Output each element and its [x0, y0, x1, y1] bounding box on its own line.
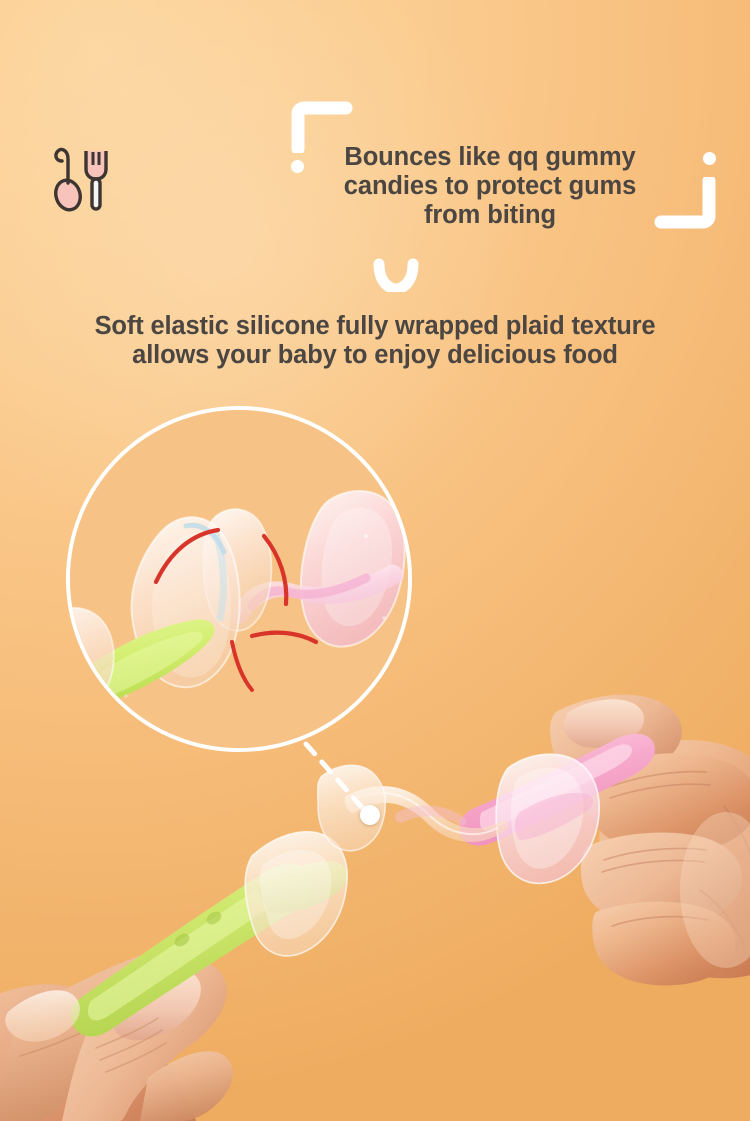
secondary-headline-line-2: allows your baby to enjoy delicious food	[40, 341, 710, 370]
primary-headline-line-2: candies to protect gums	[318, 172, 662, 201]
bracket-bottom-right-dot-icon	[703, 152, 716, 165]
secondary-headline: Soft elastic silicone fully wrapped plai…	[40, 312, 710, 370]
secondary-headline-line-1: Soft elastic silicone fully wrapped plai…	[40, 312, 710, 341]
primary-headline-line-3: from biting	[318, 201, 662, 230]
zoom-contents	[66, 406, 412, 752]
bracket-top-left-dot-icon	[291, 160, 304, 173]
spoon-fork-icon	[52, 143, 114, 215]
smile-divider-icon	[371, 258, 421, 292]
primary-headline-line-1: Bounces like qq gummy	[318, 143, 662, 172]
primary-headline: Bounces like qq gummy candies to protect…	[318, 143, 662, 230]
bracket-bottom-right-icon	[654, 177, 716, 229]
leader-anchor-dot	[360, 805, 380, 825]
marketing-banner: Bounces like qq gummy candies to protect…	[0, 0, 750, 1121]
detail-zoom-circle	[66, 406, 412, 752]
